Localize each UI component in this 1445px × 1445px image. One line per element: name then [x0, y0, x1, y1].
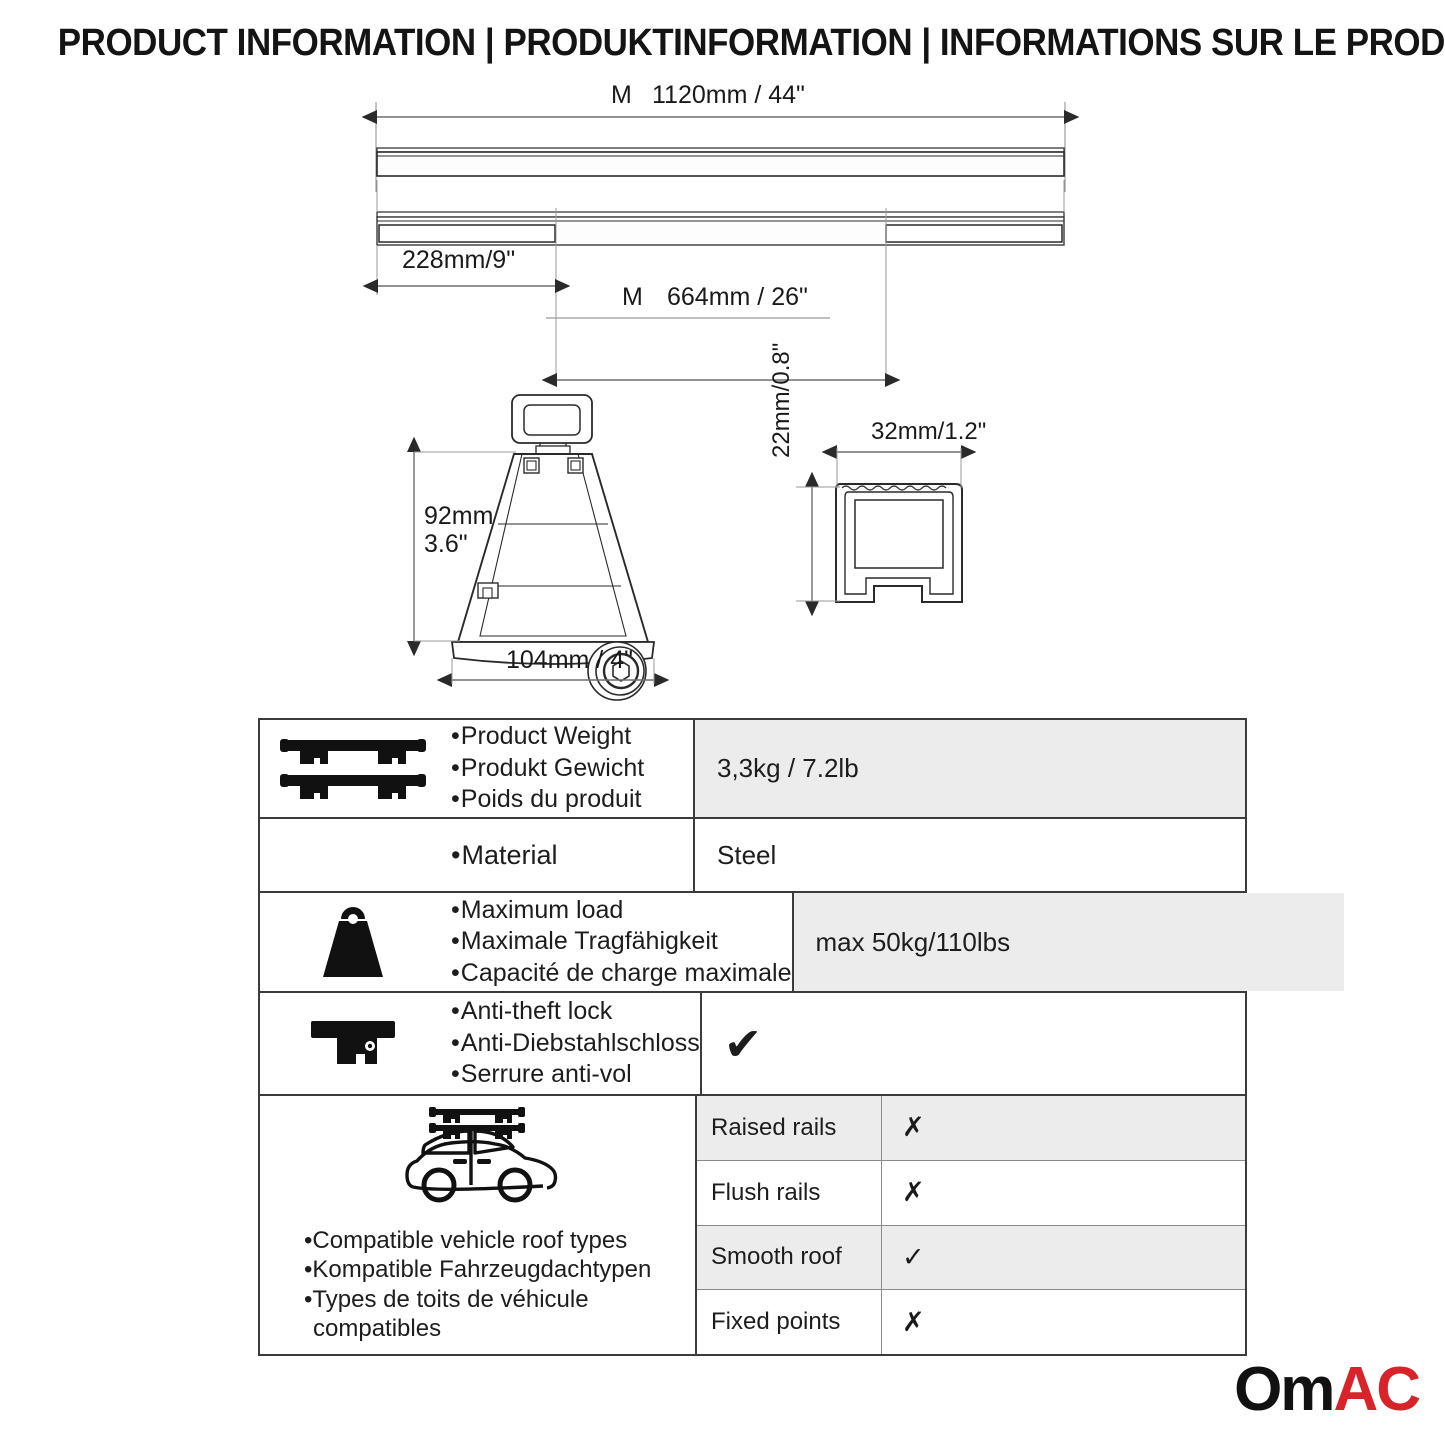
dim-profile-width-value: 32mm/1.2" [871, 418, 986, 446]
label-line: Product Weight [451, 721, 693, 753]
dim-spread-value: 664mm / 26" [667, 283, 808, 312]
cross-icon: ✗ [902, 1114, 925, 1141]
row-labels: Material [445, 819, 695, 891]
roof-types-label-cell: Compatible vehicle roof types Kompatible… [260, 1096, 697, 1354]
product-information-sheet: PRODUCT INFORMATION | PRODUKTINFORMATION… [0, 0, 1445, 1445]
roof-type-row: Raised rails ✗ [697, 1096, 1245, 1161]
material-value: Steel [695, 819, 1245, 891]
roof-type-row: Flush rails ✗ [697, 1161, 1245, 1226]
roof-types-list: Raised rails ✗ Flush rails ✗ Smooth roof… [697, 1096, 1245, 1354]
roof-type-support: ✗ [882, 1290, 1245, 1354]
dim-foot-width-value: 104mm / 4" [506, 646, 633, 675]
label-line: Types de toits de véhicule [304, 1285, 695, 1314]
dim-end-offset-value: 228mm/9" [402, 246, 515, 275]
dim-overall-value: 1120mm / 44" [652, 81, 805, 110]
dim-profile-height-value: 22mm/0.8" [768, 343, 796, 458]
omac-logo: OmAC [1234, 1359, 1419, 1421]
logo-text-om: Om [1234, 1355, 1333, 1424]
table-row: Maximum load Maximale Tragfähigkeit Capa… [260, 893, 1245, 993]
dim-spread-marker: M [622, 283, 643, 312]
anti-theft-lock-value: ✔ [702, 993, 1252, 1094]
dim-foot-height-mm: 92mm [424, 502, 493, 531]
check-icon: ✓ [902, 1244, 925, 1271]
product-weight-value: 3,3kg / 7.2lb [695, 720, 1245, 817]
table-row: Product Weight Produkt Gewicht Poids du … [260, 720, 1245, 819]
maximum-load-value: max 50kg/110lbs [794, 893, 1344, 991]
cross-icon: ✗ [902, 1179, 925, 1206]
logo-text-ac: AC [1333, 1355, 1419, 1424]
label-line: Kompatible Fahrzeugdachtypen [304, 1255, 695, 1284]
label-line: compatibles [304, 1314, 695, 1343]
row-labels: Anti-theft lock Anti-Diebstahlschloss Se… [445, 993, 702, 1094]
label-line: Poids du produit [451, 784, 693, 816]
roof-type-support: ✓ [882, 1226, 1245, 1290]
table-row: Material Steel [260, 819, 1245, 893]
cross-icon: ✗ [902, 1309, 925, 1336]
label-line: Material [451, 838, 693, 872]
dim-overall-marker: M [611, 81, 632, 110]
label-line: Produkt Gewicht [451, 753, 693, 785]
page-title: PRODUCT INFORMATION | PRODUKTINFORMATION… [58, 22, 1387, 65]
roof-type-name: Fixed points [697, 1290, 882, 1354]
row-labels: Maximum load Maximale Tragfähigkeit Capa… [445, 893, 794, 991]
table-row-roof-types: Compatible vehicle roof types Kompatible… [260, 1096, 1245, 1354]
roof-type-name: Flush rails [697, 1161, 882, 1225]
two-crossbars-icon [260, 720, 445, 817]
label-line: Capacité de charge maximale [451, 958, 792, 990]
label-line: Compatible vehicle roof types [304, 1226, 695, 1255]
label-line: Anti-theft lock [451, 996, 700, 1028]
lock-foot-icon [260, 993, 445, 1094]
empty-icon-cell [260, 819, 445, 891]
table-row: Anti-theft lock Anti-Diebstahlschloss Se… [260, 993, 1245, 1096]
roof-type-row: Smooth roof ✓ [697, 1226, 1245, 1291]
label-line: Maximale Tragfähigkeit [451, 926, 792, 958]
technical-drawing: M 1120mm / 44" 228mm/9" M 664mm / 26" 92… [0, 80, 1445, 710]
roof-type-support: ✗ [882, 1096, 1245, 1160]
roof-type-row: Fixed points ✗ [697, 1290, 1245, 1354]
label-line: Maximum load [451, 895, 792, 927]
roof-type-support: ✗ [882, 1161, 1245, 1225]
dim-foot-height-in: 3.6" [424, 530, 468, 559]
check-icon: ✔ [724, 1021, 763, 1067]
roof-type-name: Smooth roof [697, 1226, 882, 1290]
label-line: Anti-Diebstahlschloss [451, 1028, 700, 1060]
row-labels: Product Weight Produkt Gewicht Poids du … [445, 720, 695, 817]
car-with-roof-bars-icon [395, 1105, 561, 1214]
roof-types-labels: Compatible vehicle roof types Kompatible… [260, 1226, 695, 1343]
weight-block-icon [260, 893, 445, 991]
roof-type-name: Raised rails [697, 1096, 882, 1160]
label-line: Serrure anti-vol [451, 1059, 700, 1091]
page-title-bar: PRODUCT INFORMATION | PRODUKTINFORMATION… [0, 22, 1445, 65]
specification-table: Product Weight Produkt Gewicht Poids du … [258, 718, 1247, 1356]
